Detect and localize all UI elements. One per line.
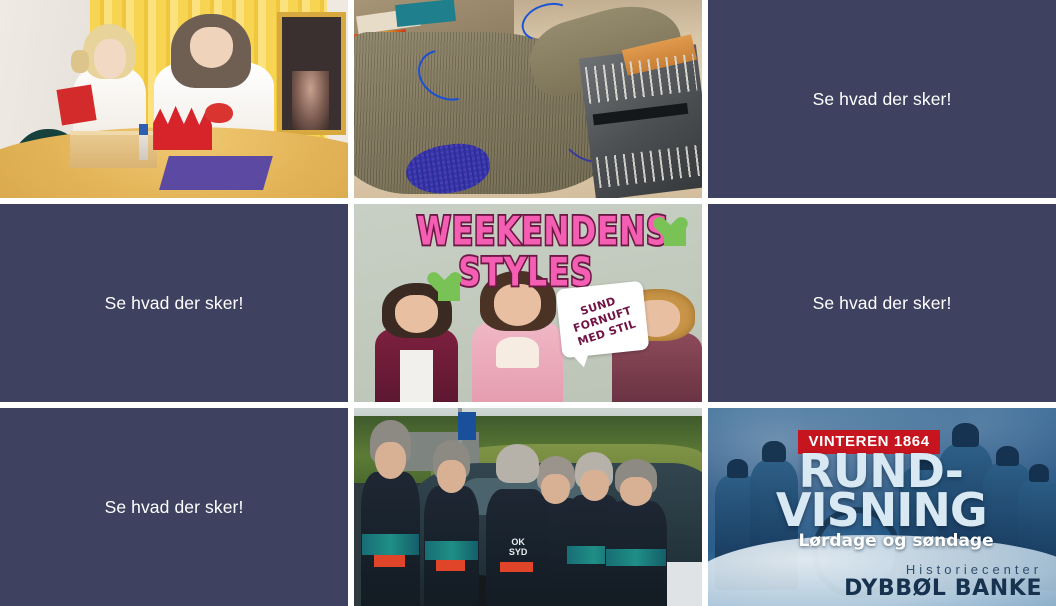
green-heart-icon (664, 226, 686, 246)
weekendens-styles-poster[interactable]: WEEKENDENS STYLES SUND FORNUFT MED STIL (354, 204, 702, 402)
placeholder-tile-3[interactable]: Se hvad der sker! (708, 204, 1056, 402)
child-face (94, 39, 126, 78)
placeholder-tile-4[interactable]: Se hvad der sker! (0, 408, 348, 606)
member-face (437, 460, 466, 493)
tile-grid: Se hvad der sker! Se hvad der sker! WEEK… (0, 0, 1056, 606)
member-jersey-back: OK SYD (486, 489, 549, 606)
poster-logo-top-line: Historiecenter (844, 562, 1042, 577)
club-group-photo[interactable]: OK SYD (354, 408, 702, 606)
jersey-teal-band (606, 549, 666, 566)
styles-title-line-1: WEEKENDENS (417, 209, 670, 254)
loom-pegs-bottom (596, 144, 702, 188)
poster-logo: Historiecenter DYBBØL BANKE (844, 562, 1042, 600)
member-hair (496, 444, 539, 483)
loom-pegs-top (585, 54, 698, 104)
person-middle-blouse (496, 337, 539, 368)
placeholder-label: Se hvad der sker! (105, 293, 244, 314)
knitting-loom (579, 45, 702, 198)
jersey-bib (374, 555, 405, 567)
placeholder-tile-1[interactable]: Se hvad der sker! (708, 0, 1056, 198)
poster-headline-line-2: VISNING (776, 489, 987, 531)
dybbol-banke-poster[interactable]: VINTEREN 1864 RUND- VISNING Lørdage og s… (708, 408, 1056, 606)
craft-red-paper-heart (205, 103, 233, 123)
placeholder-label: Se hvad der sker! (813, 293, 952, 314)
member-jersey (361, 472, 420, 606)
darned-sock-photo[interactable] (354, 0, 702, 198)
poster-logo-bottom-line: DYBBØL BANKE (844, 577, 1042, 600)
club-member (605, 459, 668, 606)
craft-purple-mat (159, 156, 273, 190)
member-jersey (605, 501, 668, 606)
jersey-teal-band (362, 534, 419, 555)
jersey-teal-band (425, 541, 478, 560)
placeholder-label: Se hvad der sker! (813, 89, 952, 110)
club-member (361, 420, 420, 606)
club-member-back: OK SYD (486, 444, 549, 606)
styles-speech-bubble: SUND FORNUFT MED STIL (556, 281, 650, 359)
jersey-club-line-2: SYD (509, 548, 528, 557)
craft-workshop-photo[interactable] (0, 0, 348, 198)
green-heart-icon (438, 281, 460, 301)
jersey-club-name: OK SYD (504, 536, 533, 559)
jersey-bib (436, 560, 465, 571)
placeholder-tile-2[interactable]: Se hvad der sker! (0, 204, 348, 402)
loom-slot (593, 103, 688, 126)
craft-wall-picture-frame (277, 12, 347, 135)
craft-red-paper-card (57, 85, 97, 126)
club-member (424, 440, 480, 606)
craft-glue-stick (139, 135, 148, 161)
poster-subtitle: Lørdage og søndage (798, 531, 993, 551)
jersey-bib (500, 562, 533, 573)
person-left-shirt (400, 350, 433, 402)
placeholder-label: Se hvad der sker! (105, 497, 244, 518)
club-blue-road-sign (458, 412, 475, 440)
person-left-face (395, 295, 438, 333)
member-jersey (424, 486, 480, 606)
